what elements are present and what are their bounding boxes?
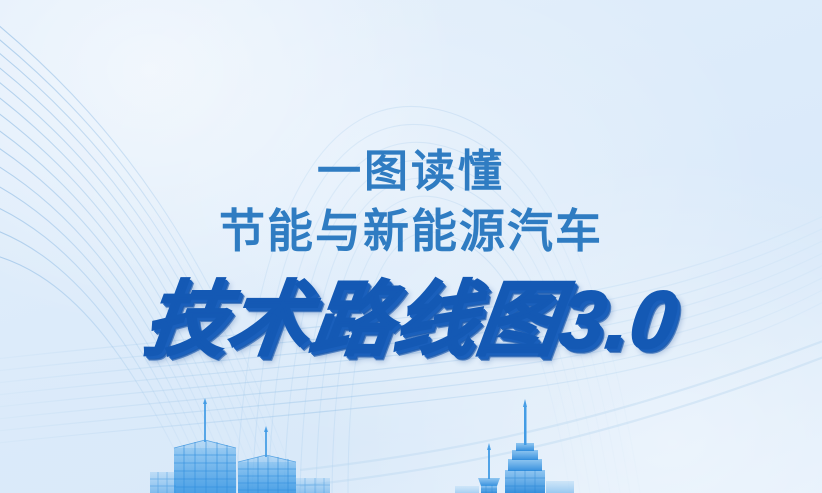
subtitle-line-2: 节能与新能源汽车 [0,206,822,256]
subtitle-line-1: 一图读懂 [0,148,822,196]
main-title: 技术路线图3.0 [0,277,822,365]
poster-canvas: 一图读懂 节能与新能源汽车 技术路线图3.0 [0,0,822,493]
